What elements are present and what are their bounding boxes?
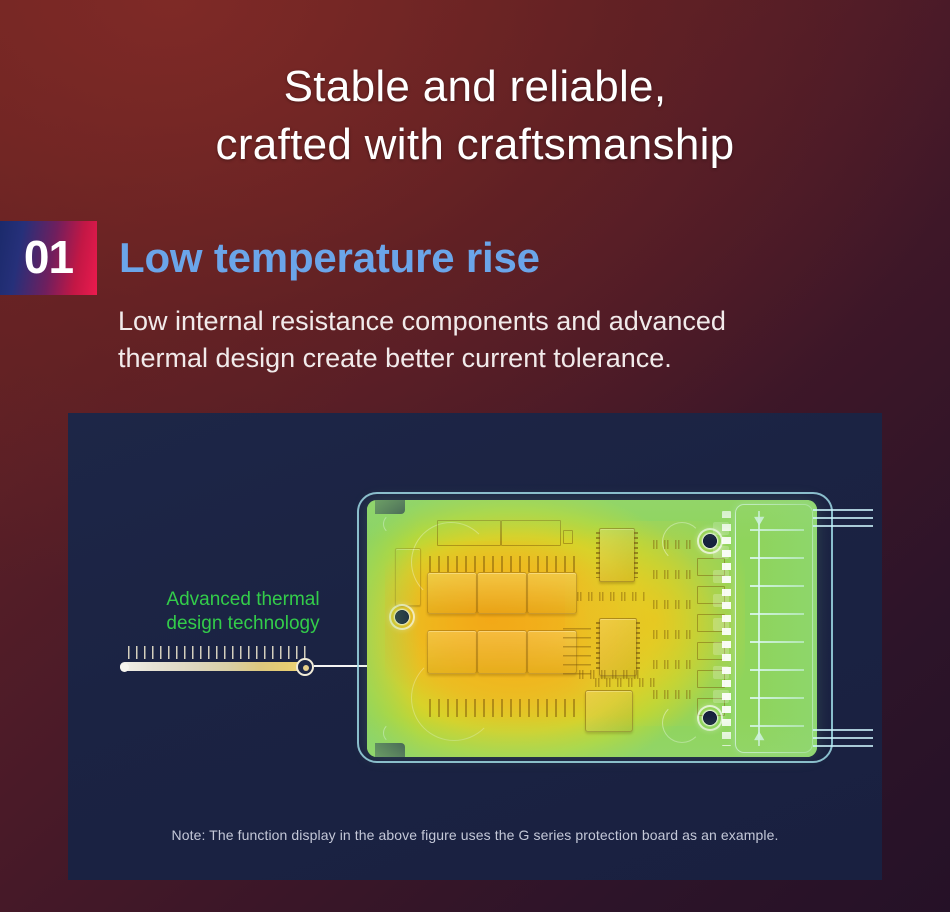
description-line-2: thermal design create better current tol… — [118, 340, 878, 377]
section-title: Low temperature rise — [97, 221, 540, 295]
annotation-line-1: Advanced thermal — [128, 588, 358, 612]
gauge-ticks — [128, 646, 306, 659]
panel-note: Note: The function display in the above … — [68, 827, 882, 843]
headline-line-1: Stable and reliable, — [0, 58, 950, 116]
thermal-circuit-board-image — [367, 500, 817, 757]
external-trace-3 — [813, 525, 873, 527]
section-header: 01 Low temperature rise — [0, 221, 950, 295]
gauge-bar — [120, 662, 310, 671]
external-trace-2 — [813, 517, 873, 519]
section-number-badge: 01 — [0, 221, 97, 295]
section-number-label: 01 — [24, 234, 73, 283]
page-headline: Stable and reliable, crafted with crafts… — [0, 58, 950, 174]
headline-line-2: crafted with craftsmanship — [0, 116, 950, 174]
external-trace-1 — [813, 509, 873, 511]
thermal-cool-edge-overlay — [367, 500, 817, 757]
gauge-knob-dot — [303, 665, 309, 671]
annotation-label: Advanced thermal design technology — [128, 588, 358, 636]
section-description: Low internal resistance components and a… — [118, 303, 878, 377]
description-line-1: Low internal resistance components and a… — [118, 303, 878, 340]
external-trace-5 — [813, 737, 873, 739]
temperature-gauge-icon — [120, 646, 320, 674]
gauge-knob-icon — [296, 658, 314, 676]
external-trace-4 — [813, 729, 873, 731]
thermal-image-panel: Advanced thermal design technology — [68, 413, 882, 880]
external-trace-6 — [813, 745, 873, 747]
annotation-line-2: design technology — [128, 612, 358, 636]
gauge-left-cap — [120, 663, 129, 672]
